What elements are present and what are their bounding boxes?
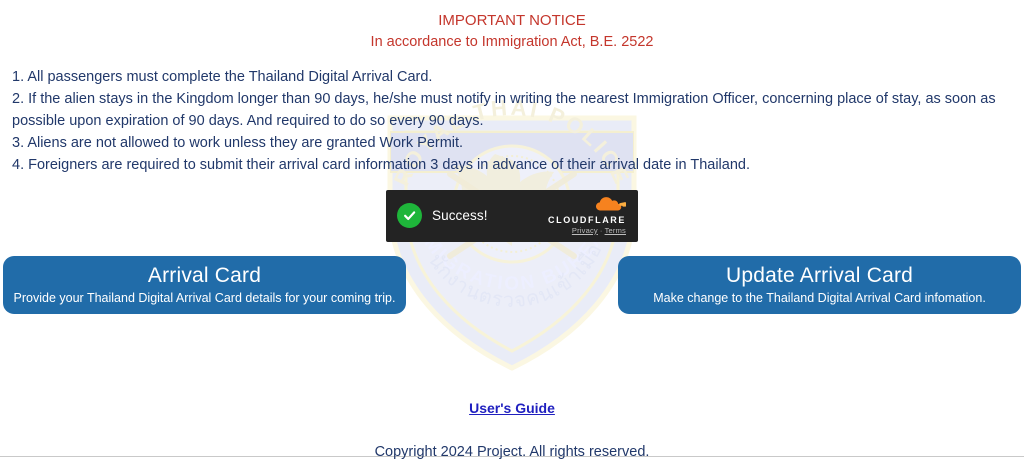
users-guide-container: User's Guide [0,400,1024,418]
update-arrival-card-title: Update Arrival Card [726,264,913,287]
cloudflare-cloud-icon [548,196,626,215]
arrival-card-subtitle: Provide your Thailand Digital Arrival Ca… [14,291,396,306]
notice-title: IMPORTANT NOTICE [0,11,1024,32]
important-notice-header: IMPORTANT NOTICE In accordance to Immigr… [0,0,1024,52]
turnstile-widget-container: Success! CLOUDFLARE Privacy·Terms [0,190,1024,242]
page-footer: Copyright 2024 Project. All rights reser… [0,442,1024,462]
cloudflare-wordmark: CLOUDFLARE [548,216,626,225]
action-buttons-row: Arrival Card Provide your Thailand Digit… [0,256,1024,314]
turnstile-legal-links: Privacy·Terms [548,227,626,235]
notice-rule-3: 3. Aliens are not allowed to work unless… [12,132,1012,154]
turnstile-status-text: Success! [432,208,488,223]
update-arrival-card-button[interactable]: Update Arrival Card Make change to the T… [618,256,1021,314]
page-root: ROYAL THAI POLICE IMMIGRATION BUREAU สำน… [0,0,1024,462]
notice-rule-2: 2. If the alien stays in the Kingdom lon… [12,88,1012,132]
turnstile-terms-link[interactable]: Terms [605,226,626,235]
notice-rules-list: 1. All passengers must complete the Thai… [0,66,1024,177]
notice-rule-1: 1. All passengers must complete the Thai… [12,66,1012,88]
arrival-card-button[interactable]: Arrival Card Provide your Thailand Digit… [3,256,406,314]
turnstile-status-group: Success! [397,203,488,228]
check-circle-icon [397,203,422,228]
cloudflare-brand-block: CLOUDFLARE Privacy·Terms [548,196,626,236]
copyright-text: Copyright 2024 Project. All rights reser… [0,442,1024,462]
arrival-card-title: Arrival Card [148,264,261,287]
notice-subtitle: In accordance to Immigration Act, B.E. 2… [0,32,1024,52]
cloudflare-turnstile-widget[interactable]: Success! CLOUDFLARE Privacy·Terms [386,190,638,242]
notice-rule-4: 4. Foreigners are required to submit the… [12,154,1012,176]
turnstile-privacy-link[interactable]: Privacy [572,226,598,235]
users-guide-link[interactable]: User's Guide [469,400,555,416]
update-arrival-card-subtitle: Make change to the Thailand Digital Arri… [653,291,986,306]
turnstile-link-separator: · [600,226,603,235]
